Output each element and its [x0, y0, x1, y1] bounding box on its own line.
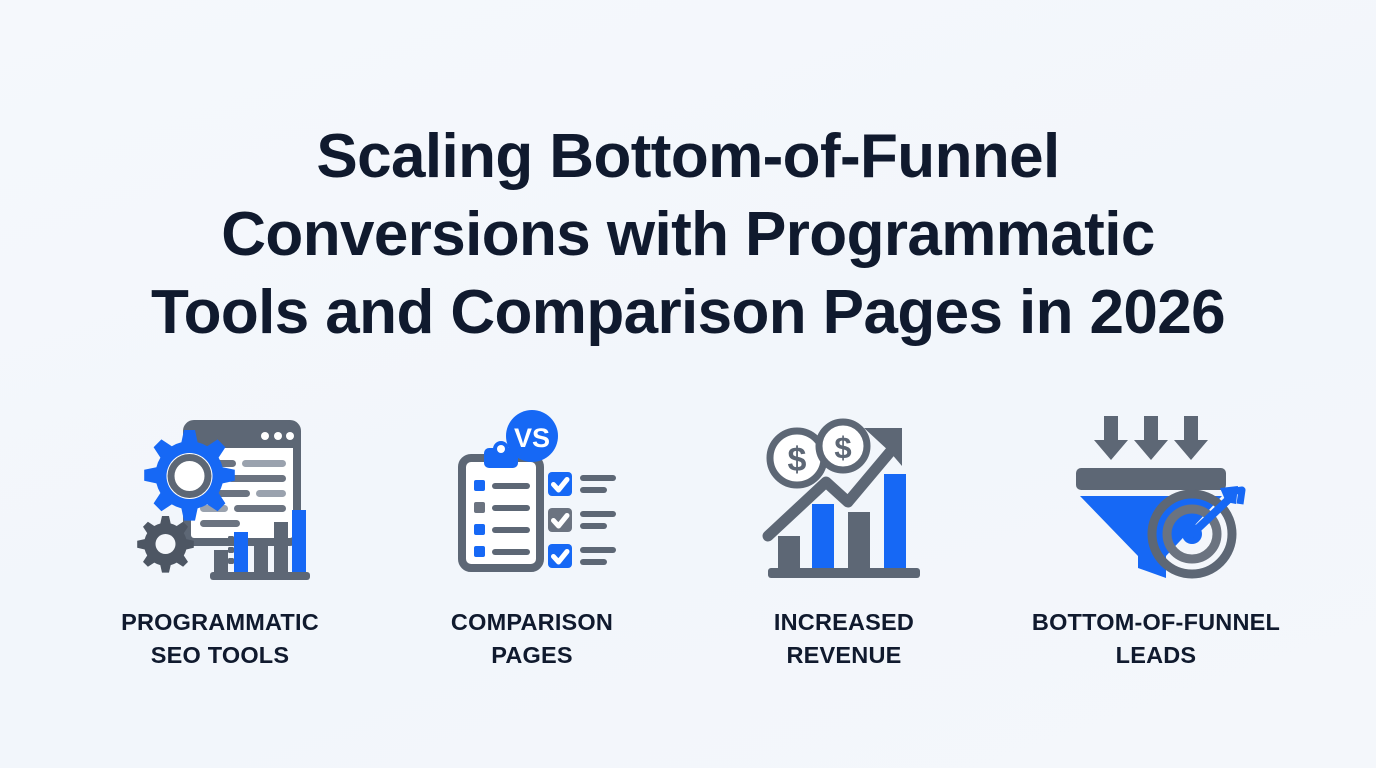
- funnel-rim-shape: [1076, 468, 1226, 490]
- down-arrows-shape: [1094, 416, 1208, 460]
- checklist-shape: [548, 472, 616, 568]
- bar-chart-shape: [768, 474, 920, 578]
- infographic-canvas: Scaling Bottom-of-Funnel Conversions wit…: [0, 0, 1376, 768]
- gear-document-chart-icon: [132, 410, 308, 582]
- dollar-coin-right-icon: $: [819, 422, 867, 470]
- svg-text:$: $: [788, 441, 807, 479]
- clipboard-vs-checklist-icon: VS: [444, 410, 620, 582]
- headline-line-3: Tools and Comparison Pages in 2026: [68, 274, 1308, 352]
- svg-text:$: $: [834, 430, 851, 465]
- funnel-target-icon: [1068, 410, 1244, 582]
- headline-line-2: Conversions with Programmatic: [68, 196, 1308, 274]
- card-comparison-pages: VS COMPARISON PAGES: [376, 410, 688, 671]
- card-label-comparison-pages: COMPARISON PAGES: [451, 606, 613, 671]
- dotted-connector: [228, 536, 234, 564]
- gear-large-shape: [144, 430, 235, 521]
- card-label-increased-revenue: INCREASED REVENUE: [774, 606, 914, 671]
- card-label-programmatic-seo-tools: PROGRAMMATIC SEO TOOLS: [121, 606, 319, 671]
- dollar-coin-left-icon: $: [770, 431, 824, 485]
- headline: Scaling Bottom-of-Funnel Conversions wit…: [68, 118, 1308, 352]
- gear-small-shape: [137, 516, 194, 573]
- card-increased-revenue: $ $: [688, 410, 1000, 671]
- vs-badge-shape: VS: [506, 410, 558, 462]
- money-growth-chart-icon: $ $: [756, 410, 932, 582]
- headline-line-1: Scaling Bottom-of-Funnel: [68, 118, 1308, 196]
- card-bottom-of-funnel-leads: BOTTOM-OF-FUNNEL LEADS: [1000, 410, 1312, 671]
- page-title: Scaling Bottom-of-Funnel Conversions wit…: [68, 118, 1308, 352]
- card-programmatic-seo-tools: PROGRAMMATIC SEO TOOLS: [64, 410, 376, 671]
- vs-badge-label: VS: [514, 423, 550, 453]
- feature-card-row: PROGRAMMATIC SEO TOOLS: [43, 410, 1333, 671]
- card-label-bottom-of-funnel-leads: BOTTOM-OF-FUNNEL LEADS: [1032, 606, 1280, 671]
